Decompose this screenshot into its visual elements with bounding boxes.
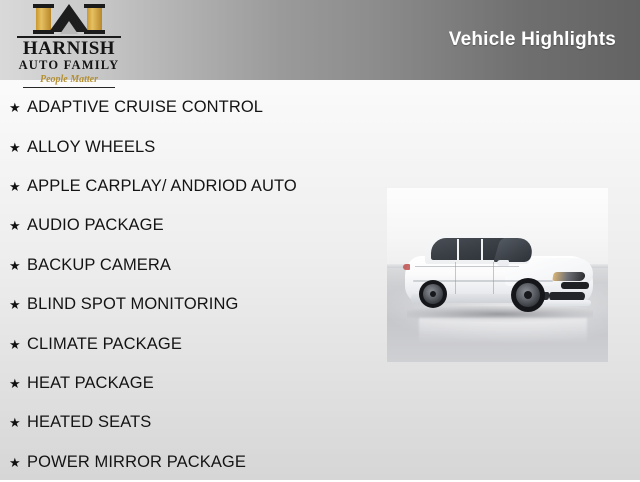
harnish-a-monogram-icon — [30, 4, 108, 34]
car-headlight — [552, 272, 586, 281]
car-door-seam — [493, 262, 494, 294]
vehicle-photo[interactable] — [387, 188, 608, 362]
star-icon: ★ — [9, 219, 27, 232]
car-front-wheel — [511, 278, 545, 312]
logo-subtitle: AUTO FAMILY — [14, 59, 124, 72]
car-front-bumper — [541, 300, 591, 306]
car-window-pillar — [457, 239, 459, 260]
list-item-label: POWER MIRROR PACKAGE — [27, 453, 246, 472]
car-door-seam — [455, 262, 456, 294]
car-beltline — [415, 266, 519, 267]
logo-column-right — [87, 6, 102, 32]
car-grille — [561, 282, 589, 289]
logo-tagline: People Matter — [23, 74, 115, 88]
car-rear-wheel — [419, 280, 447, 308]
list-item: ★ BLIND SPOT MONITORING — [0, 285, 380, 324]
page-title: Vehicle Highlights — [449, 29, 616, 51]
car-taillight — [403, 264, 410, 270]
list-item: ★ APPLE CARPLAY/ ANDRIOD AUTO — [0, 167, 380, 206]
list-item: ★ ADAPTIVE CRUISE CONTROL — [0, 88, 380, 127]
vehicle-photo-inner — [387, 188, 608, 362]
star-icon: ★ — [9, 416, 27, 429]
car-front-hub — [524, 291, 532, 299]
list-item-label: BACKUP CAMERA — [27, 256, 171, 275]
vehicle-highlights-list: ★ ADAPTIVE CRUISE CONTROL ★ ALLOY WHEELS… — [0, 88, 380, 482]
car-floor-reflection — [419, 318, 587, 344]
list-item-label: CLIMATE PACKAGE — [27, 335, 182, 354]
list-item: ★ HEATED SEATS — [0, 403, 380, 442]
header-bar: HARNISH AUTO FAMILY People Matter Vehicl… — [0, 0, 640, 80]
list-item: ★ BACKUP CAMERA — [0, 246, 380, 285]
list-item-label: ALLOY WHEELS — [27, 138, 155, 157]
list-item: ★ HEAT PACKAGE — [0, 364, 380, 403]
star-icon: ★ — [9, 298, 27, 311]
star-icon: ★ — [9, 180, 27, 193]
star-icon: ★ — [9, 338, 27, 351]
star-icon: ★ — [9, 259, 27, 272]
list-item: ★ ALLOY WHEELS — [0, 127, 380, 166]
list-item-label: ADAPTIVE CRUISE CONTROL — [27, 98, 263, 117]
car-side-mirror — [497, 260, 509, 266]
star-icon: ★ — [9, 141, 27, 154]
logo-apex-notch — [60, 21, 78, 34]
car-illustration — [401, 228, 597, 326]
car-rear-hub — [430, 291, 436, 297]
vehicle-highlights-page: HARNISH AUTO FAMILY People Matter Vehicl… — [0, 0, 640, 480]
logo-name: HARNISH — [14, 39, 124, 58]
dealer-logo[interactable]: HARNISH AUTO FAMILY People Matter — [14, 4, 124, 76]
star-icon: ★ — [9, 101, 27, 114]
list-item-label: BLIND SPOT MONITORING — [27, 295, 238, 314]
star-icon: ★ — [9, 456, 27, 469]
list-item-label: HEATED SEATS — [27, 413, 151, 432]
star-icon: ★ — [9, 377, 27, 390]
list-item: ★ AUDIO PACKAGE — [0, 206, 380, 245]
car-window-pillar — [481, 239, 483, 260]
list-item-label: AUDIO PACKAGE — [27, 216, 164, 235]
list-item-label: APPLE CARPLAY/ ANDRIOD AUTO — [27, 177, 297, 196]
list-item: ★ CLIMATE PACKAGE — [0, 324, 380, 363]
list-item: ★ POWER MIRROR PACKAGE — [0, 443, 380, 482]
car-windshield — [494, 238, 537, 262]
list-item-label: HEAT PACKAGE — [27, 374, 154, 393]
